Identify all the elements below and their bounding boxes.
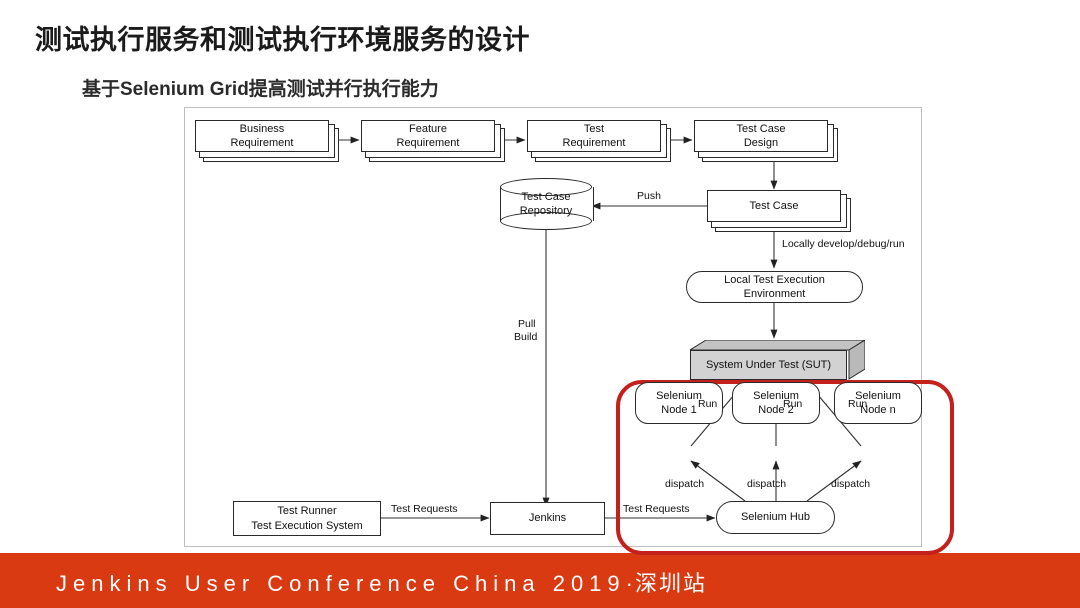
page-subtitle: 基于Selenium Grid提高测试并行执行能力 [82, 74, 439, 101]
node-test-case-repository[interactable]: Test Case Repository [500, 178, 592, 230]
node-label-line2: Repository [520, 205, 573, 217]
footer-banner: Jenkins User Conference China 2019·深圳站 [0, 553, 1080, 608]
footer-text: Jenkins User Conference China 2019·深圳站 [56, 566, 707, 598]
edge-label-build: Build [514, 331, 537, 343]
node-selenium-hub[interactable]: Selenium Hub [716, 501, 835, 534]
node-local-test-execution-environment[interactable]: Local Test Execution Environment [686, 271, 863, 303]
node-label-line1: Test Runner [277, 505, 336, 517]
edge-label-push: Push [637, 190, 661, 202]
footer-text-en: Jenkins User Conference China 2019 [56, 571, 626, 596]
page-title: 测试执行服务和测试执行环境服务的设计 [35, 18, 530, 57]
node-label-line2: Design [744, 137, 778, 149]
node-system-under-test[interactable]: System Under Test (SUT) [690, 340, 865, 380]
node-label-line2: Requirement [397, 137, 460, 149]
diagram-connectors [185, 108, 921, 546]
node-label-line1: Feature [409, 123, 447, 135]
edge-label-run-3: Run [848, 398, 867, 410]
node-label-line1: Test Case [522, 191, 571, 203]
footer-text-cn: 深圳站 [635, 571, 707, 596]
node-label-line2: Requirement [231, 137, 294, 149]
node-label-line2: Node 1 [661, 404, 696, 416]
edge-label-run-1: Run [698, 398, 717, 410]
edge-label-test-requests-1: Test Requests [391, 503, 458, 515]
node-test-runner[interactable]: Test Runner Test Execution System [233, 501, 381, 536]
node-business-requirement[interactable]: Business Requirement [195, 120, 337, 160]
node-label: Jenkins [529, 511, 566, 525]
edge-label-dispatch-2: dispatch [747, 478, 786, 490]
edge-label-run-2: Run [783, 398, 802, 410]
node-test-case[interactable]: Test Case [707, 190, 849, 230]
node-label: System Under Test (SUT) [706, 359, 831, 371]
node-label-line1: Test [584, 123, 604, 135]
node-selenium-node-2[interactable]: Selenium Node 2 [732, 382, 820, 424]
edge-label-locally-develop: Locally develop/debug/run [782, 238, 905, 250]
node-label-line1: Selenium [656, 390, 702, 402]
edge-label-dispatch-3: dispatch [831, 478, 870, 490]
edge-label-test-requests-2: Test Requests [623, 503, 690, 515]
node-label-line1: Business [240, 123, 285, 135]
node-label-line2: Test Execution System [251, 520, 362, 532]
node-label-wrap: System Under Test (SUT) [690, 350, 847, 380]
node-label-line2: Requirement [563, 137, 626, 149]
architecture-diagram: Business Requirement Feature Requirement… [184, 107, 922, 547]
node-label-line2: Environment [744, 288, 806, 300]
node-label-line1: Local Test Execution [724, 274, 825, 286]
slide-canvas: 测试执行服务和测试执行环境服务的设计 基于Selenium Grid提高测试并行… [0, 0, 1080, 608]
edge-label-dispatch-1: dispatch [665, 478, 704, 490]
node-label: Selenium Hub [741, 510, 810, 524]
node-label: Test Case [750, 199, 799, 213]
node-test-case-design[interactable]: Test Case Design [694, 120, 836, 160]
node-jenkins[interactable]: Jenkins [490, 502, 605, 535]
node-test-requirement[interactable]: Test Requirement [527, 120, 669, 160]
edge-label-pull: Pull [518, 318, 536, 330]
node-label-line1: Test Case [737, 123, 786, 135]
footer-separator: · [626, 571, 635, 596]
node-feature-requirement[interactable]: Feature Requirement [361, 120, 503, 160]
